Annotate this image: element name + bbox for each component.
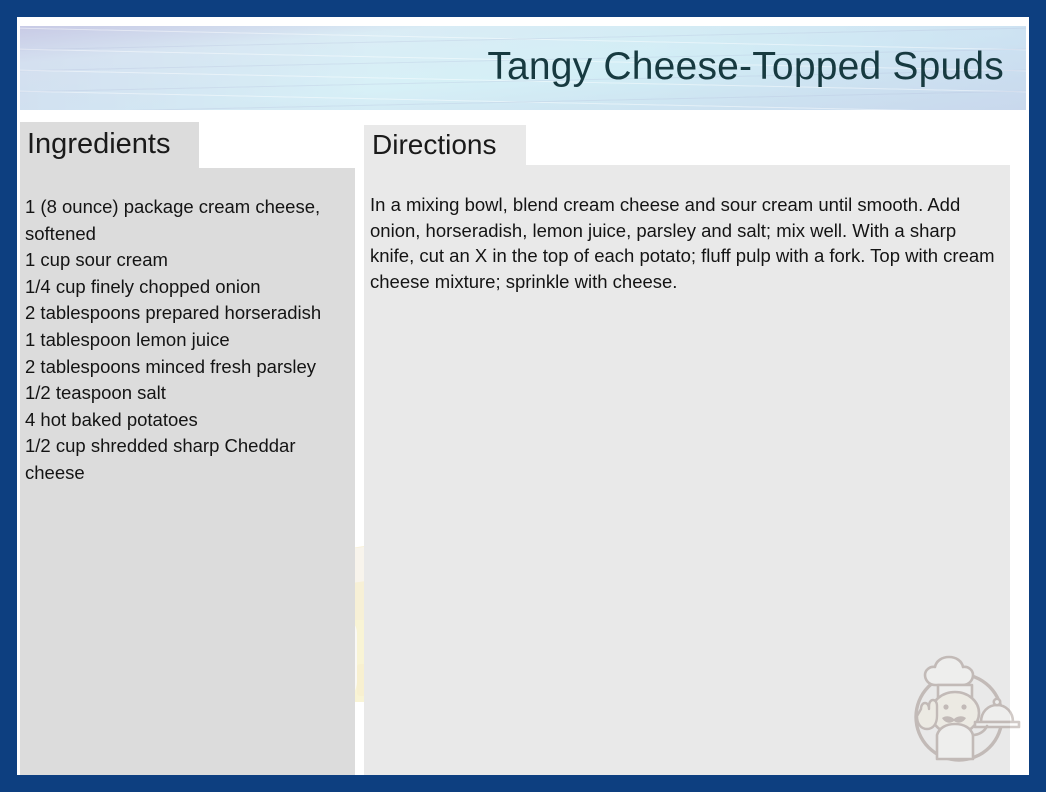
title-banner: Tangy Cheese-Topped Spuds bbox=[20, 26, 1026, 110]
ingredient-item: 1 cup sour cream bbox=[25, 247, 351, 274]
recipe-page: Tangy Cheese-Topped Spuds bbox=[17, 17, 1029, 775]
ingredients-list: 1 (8 ounce) package cream cheese, soften… bbox=[25, 194, 351, 487]
ingredient-item: 2 tablespoons prepared horseradish bbox=[25, 300, 351, 327]
directions-heading: Directions bbox=[372, 129, 496, 161]
ingredients-heading: Ingredients bbox=[27, 128, 171, 161]
chef-body-icon bbox=[937, 724, 973, 759]
recipe-card: Tangy Cheese-Topped Spuds bbox=[0, 0, 1046, 792]
ingredient-item: 2 tablespoons minced fresh parsley bbox=[25, 354, 351, 381]
ingredient-item: 1 tablespoon lemon juice bbox=[25, 327, 351, 354]
ingredient-item: 1/4 cup finely chopped onion bbox=[25, 274, 351, 301]
ingredient-item: 1/2 teaspoon salt bbox=[25, 380, 351, 407]
ingredient-item: 1/2 cup shredded sharp Cheddar cheese bbox=[25, 433, 351, 486]
page-title: Tangy Cheese-Topped Spuds bbox=[487, 45, 1004, 89]
directions-text: In a mixing bowl, blend cream cheese and… bbox=[370, 192, 1005, 294]
banner-texture-row bbox=[20, 89, 1026, 110]
chef-logo bbox=[897, 647, 1022, 772]
ingredient-item: 1 (8 ounce) package cream cheese, soften… bbox=[25, 194, 351, 247]
ingredient-item: 4 hot baked potatoes bbox=[25, 407, 351, 434]
chef-waving-hand-icon bbox=[917, 700, 937, 729]
chef-cloche-icon bbox=[975, 699, 1019, 727]
